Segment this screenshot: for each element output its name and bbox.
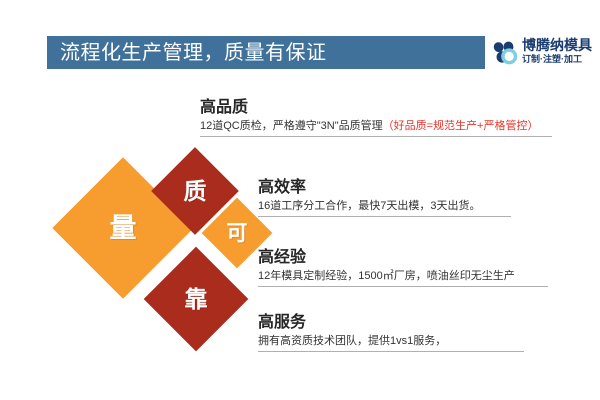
- brand-logo[interactable]: 博腾纳模具 订制·注塑·加工: [492, 36, 596, 70]
- feature-description: 12道QC质检，严格遵守"3N"品质管理（好品质=规范生产+严格管控）: [200, 118, 552, 135]
- feature-block-experience: 高经验 12年模具定制经验，1500㎡厂房，喷油丝印无尘生产: [258, 248, 548, 287]
- butterfly-logo-icon: [492, 39, 520, 67]
- feature-title: 高品质: [200, 98, 552, 118]
- feature-description-text: 16道工序分工合作，最快7天出模，3天出货。: [258, 200, 480, 212]
- divider-rule: [258, 286, 548, 287]
- diamond-ke-label: 可: [227, 223, 248, 244]
- divider-rule: [200, 136, 552, 137]
- diamond-liang-label: 量: [110, 215, 137, 242]
- diamond-kao-label: 靠: [185, 288, 208, 311]
- feature-description: 12年模具定制经验，1500㎡厂房，喷油丝印无尘生产: [258, 268, 548, 285]
- feature-title: 高经验: [258, 248, 548, 268]
- feature-title: 高服务: [258, 313, 524, 333]
- feature-description: 拥有高资质技术团队，提供1vs1服务，: [258, 333, 524, 350]
- feature-description-text: 12道QC质检，严格遵守"3N"品质管理: [200, 120, 383, 132]
- diamond-zhi-label: 质: [184, 180, 207, 203]
- feature-description-highlight: （好品质=规范生产+严格管控）: [383, 120, 539, 132]
- feature-description-text: 拥有高资质技术团队，提供1vs1服务，: [258, 335, 446, 347]
- feature-description-text: 12年模具定制经验，1500㎡厂房，喷油丝印无尘生产: [258, 270, 515, 282]
- feature-block-efficiency: 高效率 16道工序分工合作，最快7天出模，3天出货。: [258, 178, 511, 217]
- divider-rule: [258, 351, 524, 352]
- logo-tagline: 订制·注塑·加工: [522, 53, 596, 65]
- logo-company-name: 博腾纳模具: [522, 37, 596, 53]
- feature-title: 高效率: [258, 178, 511, 198]
- divider-rule: [258, 216, 511, 217]
- logo-text-group: 博腾纳模具 订制·注塑·加工: [522, 37, 596, 65]
- feature-block-quality: 高品质 12道QC质检，严格遵守"3N"品质管理（好品质=规范生产+严格管控）: [200, 98, 552, 137]
- page-title: 流程化生产管理，质量有保证: [60, 39, 480, 67]
- feature-block-service: 高服务 拥有高资质技术团队，提供1vs1服务，: [258, 313, 524, 352]
- slide-canvas: 流程化生产管理，质量有保证 博腾纳模具 订制·注塑·加工 量 质 可 靠 高品质: [0, 0, 600, 400]
- feature-description: 16道工序分工合作，最快7天出模，3天出货。: [258, 198, 511, 215]
